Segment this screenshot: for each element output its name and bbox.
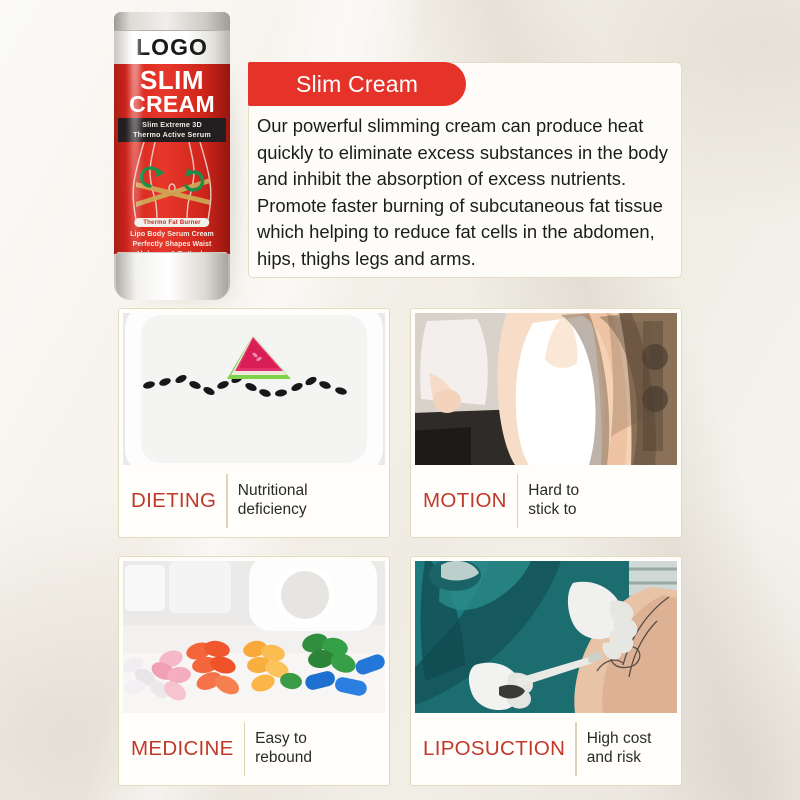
slim-cream-banner: Slim Cream [248, 62, 466, 106]
medicine-title: MEDICINE [131, 737, 234, 761]
product-description-panel: Slim Cream Our powerful slimming cream c… [248, 62, 682, 278]
banner-label: Slim Cream [296, 71, 418, 98]
medicine-subtitle: Easy to rebound [255, 730, 312, 768]
medicine-subtitle-line2: rebound [255, 749, 312, 766]
dieting-title: DIETING [131, 489, 216, 513]
motion-caption: MOTION Hard to stick to [415, 465, 677, 537]
tube-logo: LOGO [114, 34, 230, 61]
liposuction-subtitle-line2: and risk [587, 749, 641, 766]
card-dieting[interactable]: DIETING Nutritional deficiency [118, 308, 390, 538]
dieting-photo [123, 313, 385, 465]
caption-divider [517, 474, 519, 528]
torso-illustration [114, 142, 230, 220]
tube-seal [114, 12, 230, 31]
tube-desc-line1: Lipo Body Serum Cream [117, 230, 227, 240]
motion-photo [415, 313, 677, 465]
liposuction-subtitle-line1: High cost [587, 730, 652, 747]
tube-subtitle: Slim Extreme 3D Thermo Active Serum [118, 118, 226, 142]
dieting-subtitle: Nutritional deficiency [238, 482, 308, 520]
tube-body: LOGO SLIM CREAM Slim Extreme 3D Thermo A… [114, 12, 230, 300]
tube-cap [116, 252, 228, 300]
liposuction-subtitle: High cost and risk [587, 730, 652, 768]
motion-subtitle: Hard to stick to [528, 482, 579, 520]
card-motion[interactable]: MOTION Hard to stick to [410, 308, 682, 538]
dieting-subtitle-line1: Nutritional [238, 482, 308, 499]
medicine-caption: MEDICINE Easy to rebound [123, 713, 385, 785]
card-liposuction[interactable]: LIPOSUCTION High cost and risk [410, 556, 682, 786]
tube-desc-line2: Perfectly Shapes Waist [117, 240, 227, 250]
thermo-fat-burner-badge: Thermo Fat Burner [134, 218, 209, 227]
liposuction-photo [415, 561, 677, 713]
medicine-photo [123, 561, 385, 713]
caption-divider [244, 722, 246, 776]
motion-subtitle-line1: Hard to [528, 482, 579, 499]
motion-title: MOTION [423, 489, 507, 513]
motion-subtitle-line2: stick to [528, 501, 576, 518]
tube-product-title: SLIM CREAM [114, 68, 230, 115]
tube-label: SLIM CREAM Slim Extreme 3D Thermo Active… [114, 64, 230, 254]
caption-divider [575, 722, 577, 776]
problem-cards-grid: DIETING Nutritional deficiency [118, 308, 682, 786]
caption-divider [226, 474, 228, 528]
liposuction-caption: LIPOSUCTION High cost and risk [415, 713, 677, 785]
description-text: Our powerful slimming cream can produce … [249, 109, 681, 272]
tube-subtitle-line2: Thermo Active Serum [118, 130, 226, 140]
liposuction-title: LIPOSUCTION [423, 737, 565, 761]
tube-subtitle-line1: Slim Extreme 3D [118, 120, 226, 130]
tube-title-line2: CREAM [114, 93, 230, 115]
medicine-subtitle-line1: Easy to [255, 730, 307, 747]
dieting-subtitle-line2: deficiency [238, 501, 307, 518]
product-tube: LOGO SLIM CREAM Slim Extreme 3D Thermo A… [106, 4, 238, 304]
dieting-caption: DIETING Nutritional deficiency [123, 465, 385, 537]
tube-title-line1: SLIM [114, 68, 230, 93]
card-medicine[interactable]: MEDICINE Easy to rebound [118, 556, 390, 786]
